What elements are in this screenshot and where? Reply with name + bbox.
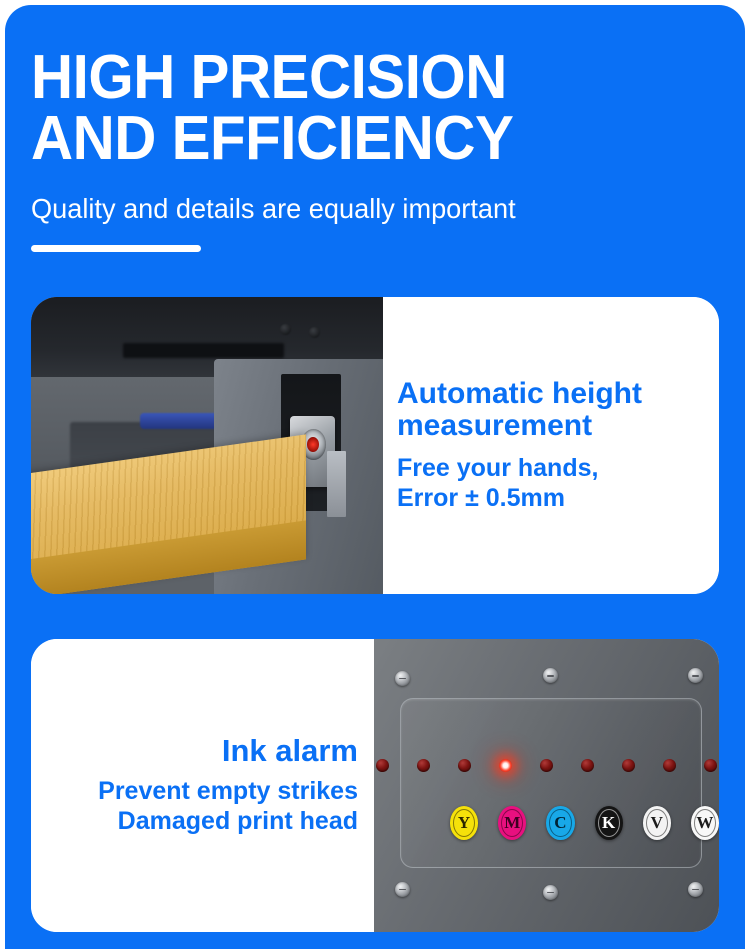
ink-led-6-off — [581, 759, 594, 772]
ink-led-row — [374, 759, 719, 772]
panel-screw-icon — [543, 885, 558, 900]
height-measurement-text: Automatic height measurement Free your h… — [383, 297, 719, 594]
card-title: Ink alarm — [222, 735, 358, 768]
panel-screw-icon — [688, 882, 703, 897]
panel-screw-icon — [543, 668, 558, 683]
promo-page: HIGH PRECISION AND EFFICIENCY Quality an… — [0, 0, 750, 949]
height-sensor-photo — [31, 297, 383, 594]
accent-underline-bar — [31, 245, 201, 252]
page-headline: HIGH PRECISION AND EFFICIENCY — [31, 48, 670, 170]
ink-badge-row: YMCKVW — [374, 806, 719, 840]
ink-badge-black: K — [595, 806, 623, 840]
ink-led-9-off — [704, 759, 717, 772]
ink-badge-white: W — [691, 806, 719, 840]
ink-led-7-off — [622, 759, 635, 772]
card-title: Automatic height measurement — [397, 378, 642, 442]
feature-card-ink-alarm[interactable]: Ink alarm Prevent empty strikes Damaged … — [31, 639, 719, 932]
ink-led-4-on — [499, 759, 512, 772]
ink-led-2-off — [417, 759, 430, 772]
ink-badge-yellow: Y — [450, 806, 478, 840]
ink-led-8-off — [663, 759, 676, 772]
ink-led-1-off — [376, 759, 389, 772]
panel-screw-icon — [395, 882, 410, 897]
feature-card-height-measurement[interactable]: Automatic height measurement Free your h… — [31, 297, 719, 594]
card-description: Free your hands, Error ± 0.5mm — [397, 453, 598, 513]
panel-screw-icon — [395, 671, 410, 686]
ink-badge-cyan: C — [546, 806, 574, 840]
ink-led-3-off — [458, 759, 471, 772]
ink-alarm-text: Ink alarm Prevent empty strikes Damaged … — [31, 639, 374, 932]
ink-badge-magenta: M — [498, 806, 526, 840]
page-subheadline: Quality and details are equally importan… — [31, 170, 691, 226]
ink-panel-inset-frame — [400, 698, 702, 868]
ink-badge-varnish: V — [643, 806, 671, 840]
panel-screw-icon — [688, 668, 703, 683]
card-description: Prevent empty strikes Damaged print head — [98, 776, 358, 836]
header-block: HIGH PRECISION AND EFFICIENCY Quality an… — [31, 48, 711, 252]
ink-alarm-photo: YMCKVW — [374, 639, 719, 932]
ink-led-5-off — [540, 759, 553, 772]
